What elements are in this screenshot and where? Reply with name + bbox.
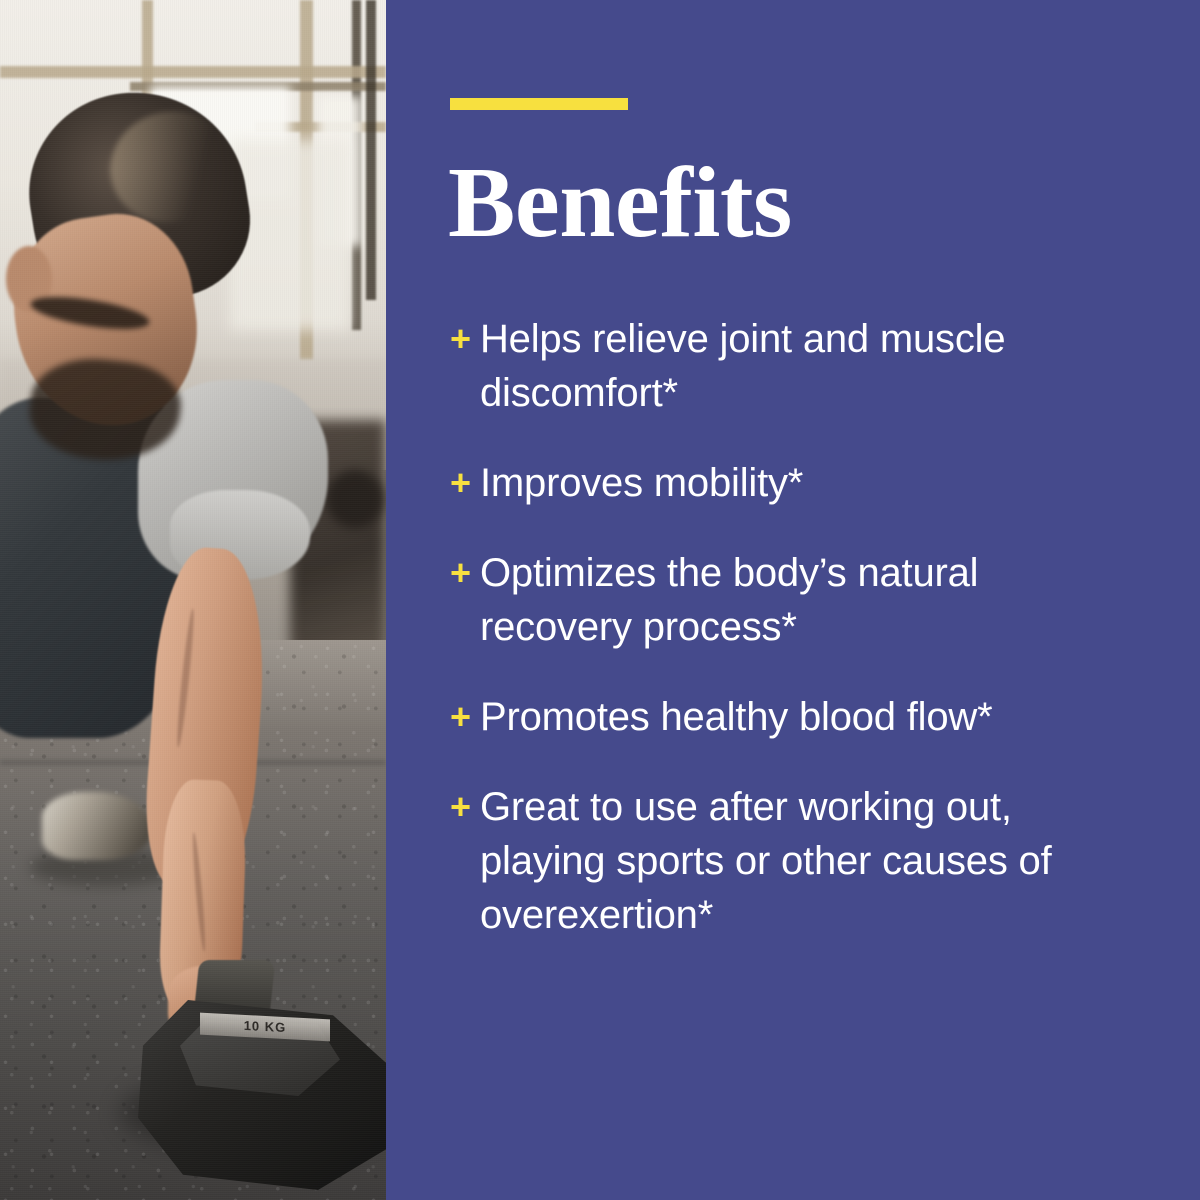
sneaker	[42, 792, 152, 860]
benefit-text: Great to use after working out, playing …	[480, 780, 1140, 942]
weight-plate	[326, 470, 384, 528]
list-item: + Optimizes the body’s natural recovery …	[450, 546, 1140, 654]
benefits-panel: Benefits + Helps relieve joint and muscl…	[386, 0, 1200, 1200]
gym-photo: 10 KG	[0, 0, 386, 1200]
list-item: + Great to use after working out, playin…	[450, 780, 1140, 942]
benefits-infographic: 10 KG Benefits + Helps relieve joint and…	[0, 0, 1200, 1200]
benefit-text: Improves mobility*	[480, 456, 1140, 510]
benefits-list: + Helps relieve joint and muscle discomf…	[450, 312, 1140, 942]
benefit-text: Optimizes the body’s natural recovery pr…	[480, 546, 1140, 654]
plus-icon: +	[450, 690, 480, 744]
plus-icon: +	[450, 312, 480, 366]
benefit-text: Promotes healthy blood flow*	[480, 690, 1140, 744]
plus-icon: +	[450, 780, 480, 834]
page-title: Benefits	[448, 152, 792, 253]
plus-icon: +	[450, 546, 480, 600]
plus-icon: +	[450, 456, 480, 510]
list-item: + Helps relieve joint and muscle discomf…	[450, 312, 1140, 420]
gym-pole	[366, 0, 376, 300]
window-mullion-horizontal	[0, 66, 386, 78]
list-item: + Promotes healthy blood flow*	[450, 690, 1140, 744]
benefit-text: Helps relieve joint and muscle discomfor…	[480, 312, 1140, 420]
accent-bar	[450, 98, 628, 110]
list-item: + Improves mobility*	[450, 456, 1140, 510]
